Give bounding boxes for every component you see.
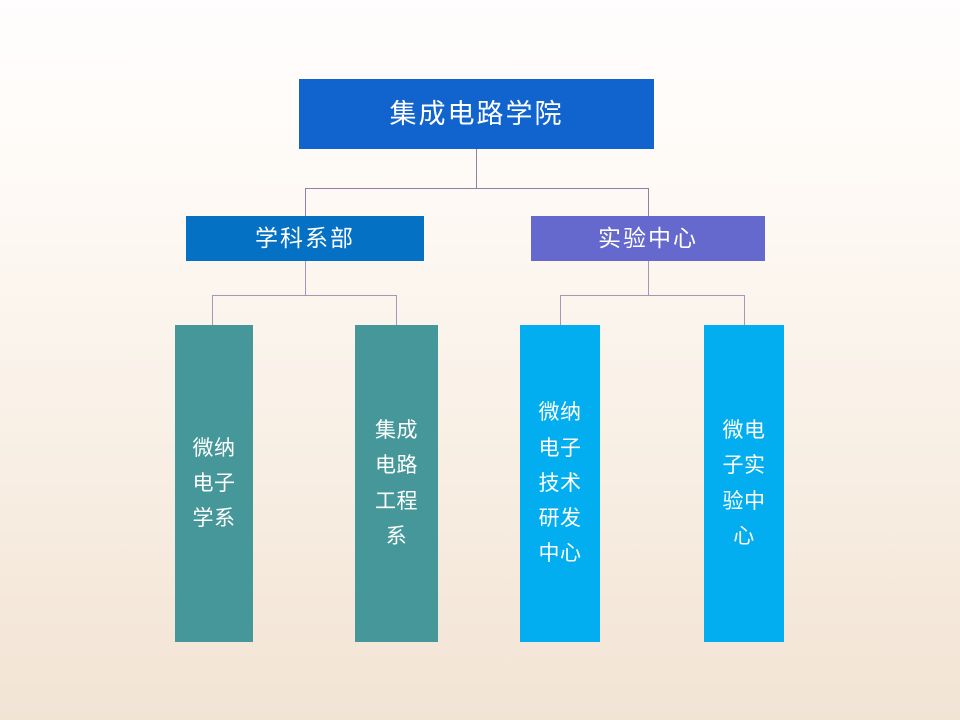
connector-to-lab-center <box>648 188 649 216</box>
connector-lab-center-bar <box>560 295 745 296</box>
connector-lab-center-stem <box>648 261 649 295</box>
connector-root-stem <box>476 149 477 188</box>
node-experiment-center[interactable]: 实验中心 <box>531 216 765 261</box>
connector-to-micro-lab <box>744 295 745 325</box>
node-micro-nano-electronics-dept[interactable]: 微纳 电子 学系 <box>175 325 253 642</box>
node-micro-nano-rnd-center[interactable]: 微纳 电子 技术 研发 中心 <box>520 325 600 642</box>
connector-level2-bar <box>305 188 648 189</box>
connector-departments-bar <box>212 295 397 296</box>
node-microelectronics-lab-center[interactable]: 微电 子实 验中 心 <box>704 325 784 642</box>
org-chart-canvas: 集成电路学院 学科系部 实验中心 微纳 电子 学系 集成 电路 工程 系 微纳 … <box>0 0 960 720</box>
node-academic-departments[interactable]: 学科系部 <box>186 216 424 261</box>
connector-departments-stem <box>305 261 306 295</box>
node-root-school[interactable]: 集成电路学院 <box>299 79 654 149</box>
node-ic-engineering-dept[interactable]: 集成 电路 工程 系 <box>355 325 438 642</box>
connector-to-rnd-center <box>560 295 561 325</box>
connector-to-ic-eng-dept <box>396 295 397 325</box>
connector-to-departments <box>305 188 306 216</box>
connector-to-micro-nano-dept <box>212 295 213 325</box>
